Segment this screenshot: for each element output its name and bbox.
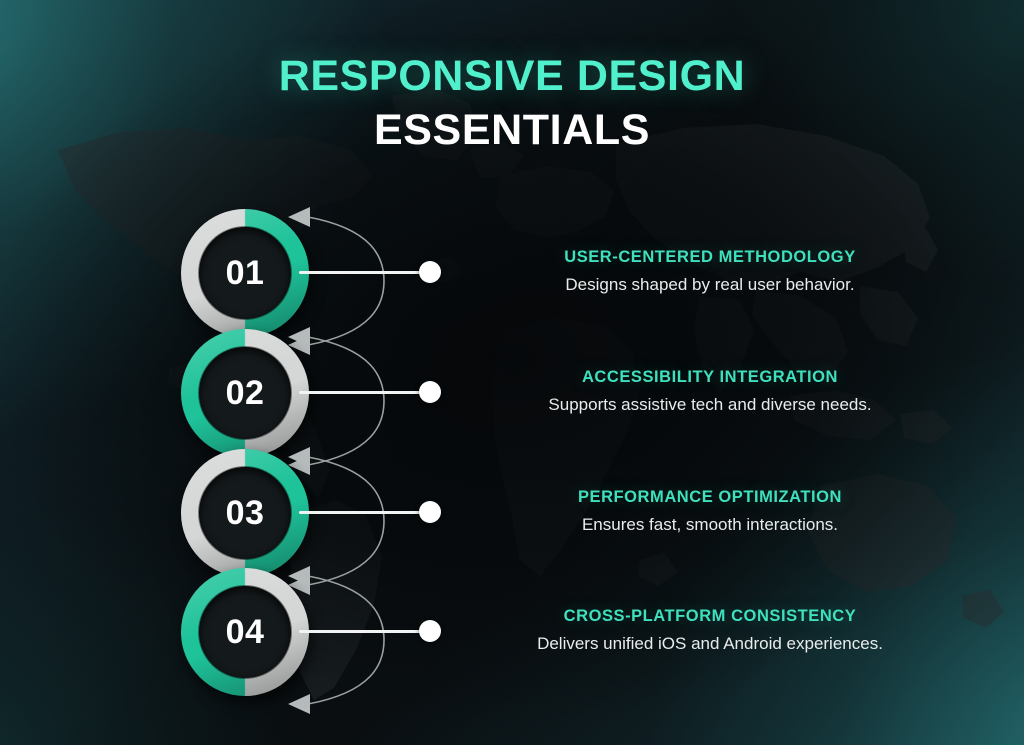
step-description: Delivers unified iOS and Android experie… bbox=[470, 633, 950, 655]
step-description: Designs shaped by real user behavior. bbox=[470, 274, 950, 296]
connector-line bbox=[299, 511, 431, 514]
connector-dot bbox=[419, 381, 441, 403]
ring-inner: 02 bbox=[199, 347, 291, 439]
step-description: Ensures fast, smooth interactions. bbox=[470, 514, 950, 536]
connector-dot bbox=[419, 501, 441, 523]
ring-inner: 04 bbox=[199, 586, 291, 678]
step-number: 02 bbox=[226, 376, 265, 410]
step-heading: ACCESSIBILITY INTEGRATION bbox=[470, 367, 950, 388]
connector-line bbox=[299, 630, 431, 633]
ring-inner: 01 bbox=[199, 227, 291, 319]
connector-dot bbox=[419, 620, 441, 642]
infographic-canvas: RESPONSIVE DESIGN ESSENTIALS 01 USER-CEN… bbox=[0, 0, 1024, 745]
step-item-04[interactable]: 04 CROSS-PLATFORM CONSISTENCY Delivers u… bbox=[0, 568, 1024, 712]
connector-line bbox=[299, 271, 431, 274]
step-text-block: ACCESSIBILITY INTEGRATION Supports assis… bbox=[470, 367, 950, 416]
step-connector bbox=[299, 270, 441, 275]
step-text-block: CROSS-PLATFORM CONSISTENCY Delivers unif… bbox=[470, 606, 950, 655]
connector-line bbox=[299, 391, 431, 394]
page-title: RESPONSIVE DESIGN ESSENTIALS bbox=[0, 54, 1024, 153]
step-connector bbox=[299, 510, 441, 515]
title-line-primary: RESPONSIVE DESIGN bbox=[0, 54, 1024, 99]
step-connector bbox=[299, 629, 441, 634]
step-description: Supports assistive tech and diverse need… bbox=[470, 394, 950, 416]
step-text-block: USER-CENTERED METHODOLOGY Designs shaped… bbox=[470, 247, 950, 296]
step-connector bbox=[299, 390, 441, 395]
step-heading: CROSS-PLATFORM CONSISTENCY bbox=[470, 606, 950, 627]
step-text-block: PERFORMANCE OPTIMIZATION Ensures fast, s… bbox=[470, 487, 950, 536]
ring-inner: 03 bbox=[199, 467, 291, 559]
step-number: 03 bbox=[226, 496, 265, 530]
step-number: 01 bbox=[226, 256, 265, 290]
connector-dot bbox=[419, 261, 441, 283]
title-line-secondary: ESSENTIALS bbox=[0, 108, 1024, 153]
curved-arrow-arc bbox=[286, 558, 416, 722]
step-heading: PERFORMANCE OPTIMIZATION bbox=[470, 487, 950, 508]
step-heading: USER-CENTERED METHODOLOGY bbox=[470, 247, 950, 268]
step-number: 04 bbox=[226, 615, 265, 649]
